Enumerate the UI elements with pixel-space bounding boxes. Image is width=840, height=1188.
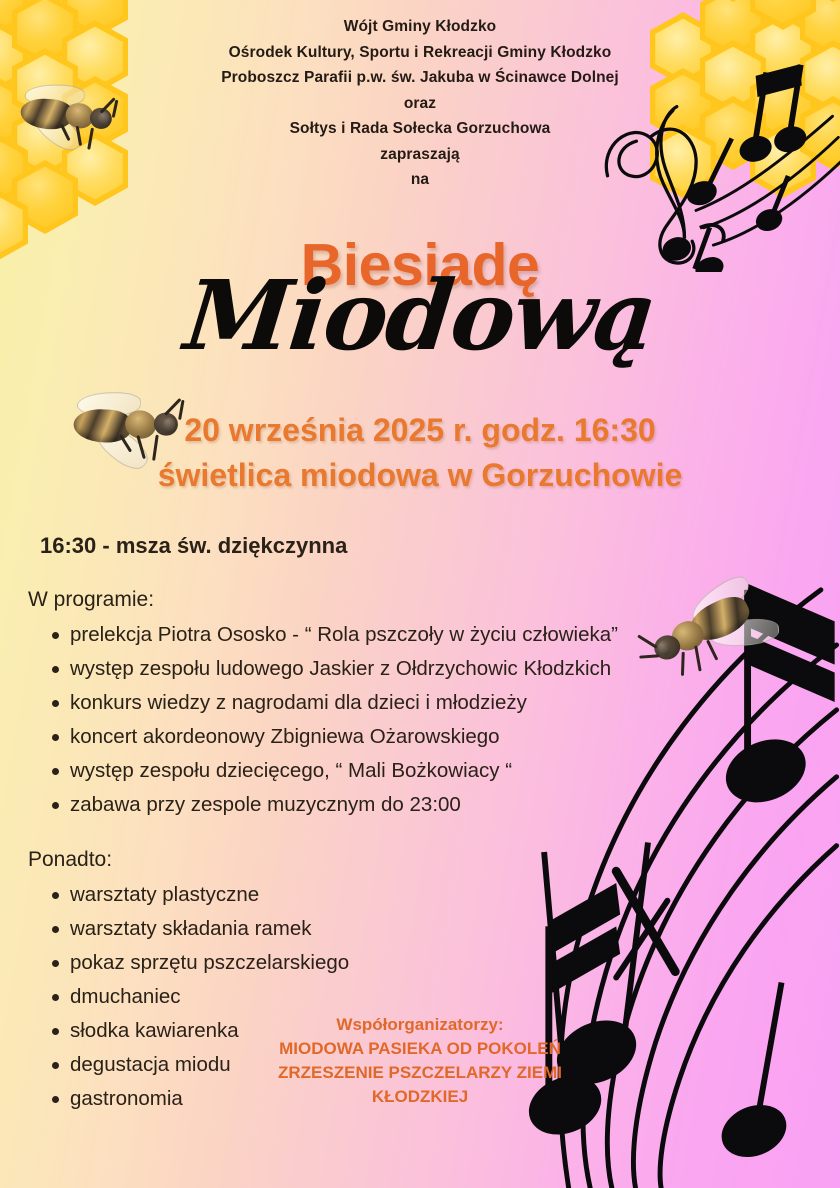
bee-antenna [639,655,659,659]
music-cross-stroke [616,901,667,978]
list-item: występ zespołu ludowego Jaskier z Ołdrzy… [28,652,618,686]
event-date-time: 20 września 2025 r. godz. 16:30 [0,408,840,453]
program-heading: W programie: [28,588,154,612]
program-list: prelekcja Piotra Ososko - “ Rola pszczoł… [28,618,618,822]
list-item: występ zespołu dziecięcego, “ Mali Bożko… [28,754,618,788]
event-when-block: 20 września 2025 r. godz. 16:30 świetlic… [0,408,840,498]
list-item: dmuchaniec [28,980,349,1014]
coorganizers-heading: Współorganizatorzy: [230,1013,610,1037]
bee-leg [681,652,684,676]
poster-canvas: Wójt Gminy Kłodzko Ośrodek Kultury, Spor… [0,0,840,1188]
list-item: zabawa przy zespole muzycznym do 23:00 [28,788,618,822]
organizer-line: zapraszają [0,142,840,168]
organizer-line: oraz [0,91,840,117]
organizer-line: na [0,167,840,193]
bee-illustration-bottom-right [634,568,811,725]
organizers-block: Wójt Gminy Kłodzko Ośrodek Kultury, Spor… [0,14,840,193]
organizer-line: Wójt Gminy Kłodzko [0,14,840,40]
organizer-line: Ośrodek Kultury, Sportu i Rekreacji Gmin… [0,40,840,66]
organizer-line: Proboszcz Parafii p.w. św. Jakuba w Ścin… [0,65,840,91]
list-item: warsztaty składania ramek [28,912,349,946]
coorganizers-block: Współorganizatorzy: MIODOWA PASIEKA OD P… [230,1013,610,1109]
bee-leg [694,645,701,671]
list-item: konkurs wiedzy z nagrodami dla dzieci i … [28,686,618,720]
mass-time-line: 16:30 - msza św. dziękczynna [40,533,347,559]
list-item: warsztaty plastyczne [28,878,349,912]
coorganizer-line: MIODOWA PASIEKA OD POKOLEŃ [230,1037,610,1061]
list-item: prelekcja Piotra Ososko - “ Rola pszczoł… [28,618,618,652]
bee-antenna [637,635,657,649]
event-title-script: Miodową [0,268,840,364]
list-item: koncert akordeonowy Zbigniewa Ożarowskie… [28,720,618,754]
music-note-bottom-right [714,982,794,1166]
list-item: pokaz sprzętu pszczelarskiego [28,946,349,980]
event-venue: świetlica miodowa w Gorzuchowie [0,453,840,498]
organizer-line: Sołtys i Rada Sołecka Gorzuchowa [0,116,840,142]
extras-heading: Ponadto: [28,848,112,872]
coorganizer-line: ZRZESZENIE PSZCZELARZY ZIEMI KŁODZKIEJ [230,1061,610,1109]
music-cross-stroke [616,871,675,971]
